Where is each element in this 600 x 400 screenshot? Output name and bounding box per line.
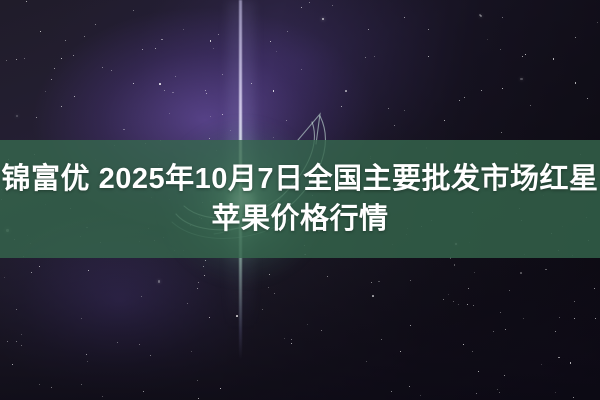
- title-line-1: 锦富优 2025年10月7日全国主要批发市场红星: [2, 159, 599, 199]
- title-line-2: 苹果价格行情: [211, 199, 388, 239]
- promo-banner: 锦富优 2025年10月7日全国主要批发市场红星 苹果价格行情: [0, 0, 600, 400]
- banner-title: 锦富优 2025年10月7日全国主要批发市场红星 苹果价格行情: [0, 140, 600, 258]
